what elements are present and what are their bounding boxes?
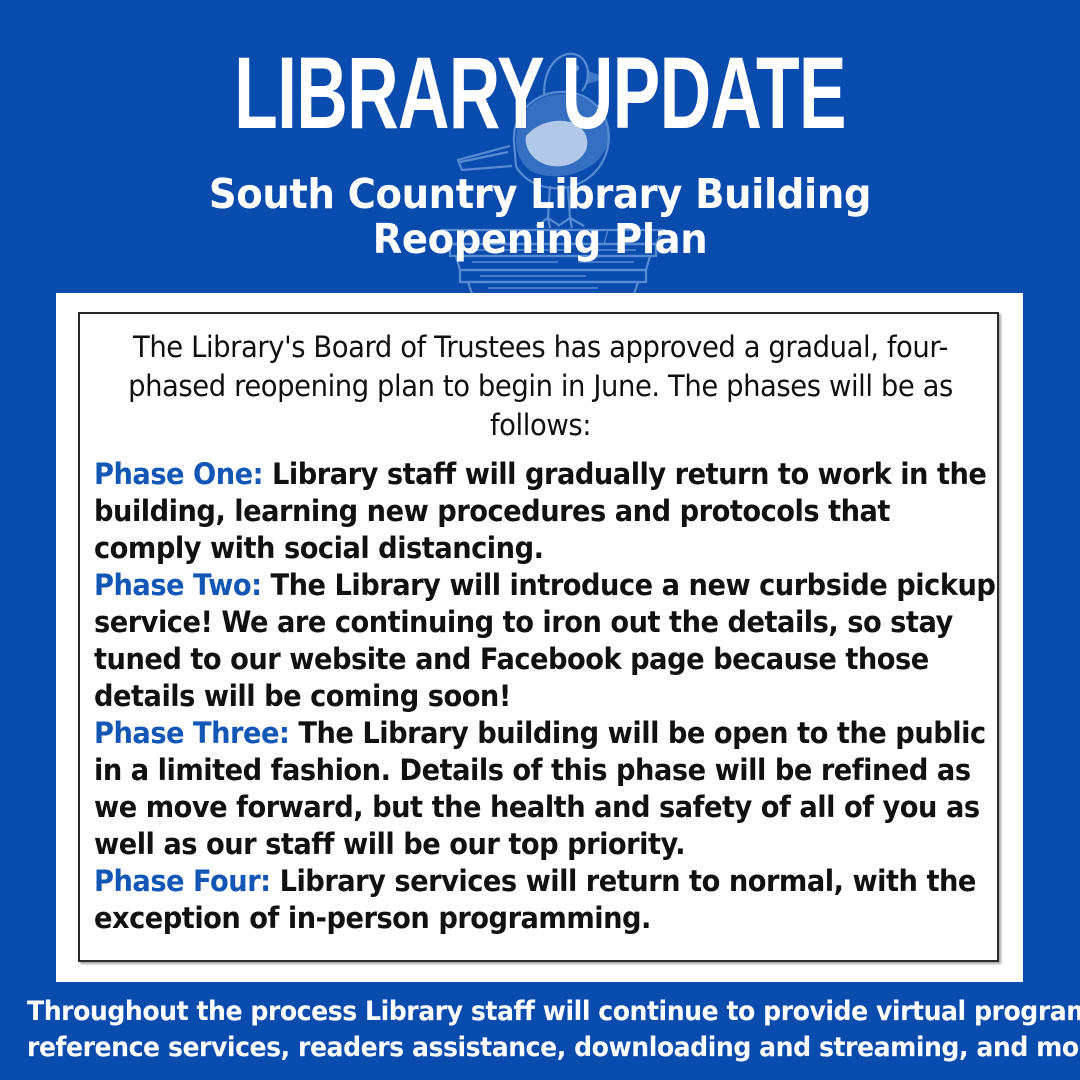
phase-list: Phase One: Library staff will gradually … <box>94 456 999 937</box>
page-subtitle: South Country Library Building Reopening… <box>32 172 1047 262</box>
poster-footer: Throughout the process Library staff wil… <box>27 994 1053 1066</box>
phase-item: Phase Three: The Library building will b… <box>94 715 999 863</box>
subtitle-line-2: Reopening Plan <box>32 217 1047 262</box>
phase-item: Phase One: Library staff will gradually … <box>94 456 999 567</box>
phase-label: Phase One: <box>94 457 263 491</box>
phase-item: Phase Four: Library services will return… <box>94 863 999 937</box>
footer-line-2: reference services, readers assistance, … <box>27 1030 1053 1066</box>
phase-label: Phase Four: <box>94 864 271 898</box>
phase-label: Phase Three: <box>94 716 289 750</box>
intro-paragraph: The Library's Board of Trustees has appr… <box>125 328 955 445</box>
phase-item: Phase Two: The Library will introduce a … <box>94 567 999 715</box>
subtitle-line-1: South Country Library Building <box>32 172 1047 217</box>
page-title: LIBRARY UPDATE <box>162 42 918 144</box>
content-inner-box: The Library's Board of Trustees has appr… <box>78 312 999 962</box>
phase-label: Phase Two: <box>94 568 261 602</box>
footer-line-1: Throughout the process Library staff wil… <box>27 994 1053 1030</box>
content-panel: The Library's Board of Trustees has appr… <box>56 293 1023 982</box>
poster-header: LIBRARY UPDATE South Country Library Bui… <box>0 0 1080 293</box>
